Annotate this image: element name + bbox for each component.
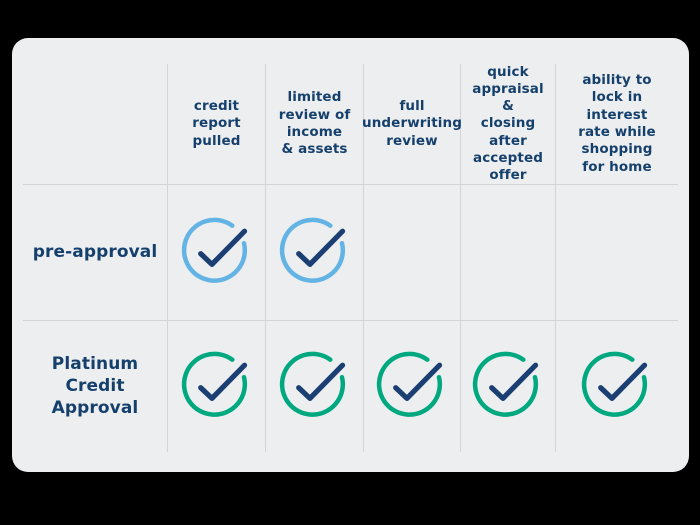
- circle-arc: [184, 220, 245, 281]
- checkmark: [200, 365, 244, 398]
- column-header-limited-review: limited review of income & assets: [266, 64, 363, 184]
- check-circle-icon: [581, 350, 653, 422]
- column-header-label: quick appraisal & closing after accepted…: [465, 64, 551, 185]
- column-header-credit-report-pulled: credit report pulled: [168, 64, 265, 184]
- checkmark: [601, 365, 645, 398]
- checkmark: [492, 365, 536, 398]
- circle-arc: [475, 354, 536, 415]
- check-circle-icon: [279, 216, 351, 288]
- checkmark: [298, 365, 342, 398]
- check-circle-icon: [472, 350, 544, 422]
- circle-arc: [584, 354, 645, 415]
- row-label-platinum-credit-approval: Platinum Credit Approval: [23, 320, 167, 452]
- cell-platinum-credit-approval-credit-report-pulled: [168, 320, 265, 452]
- check-circle-icon: [181, 216, 253, 288]
- column-header-label: credit report pulled: [192, 98, 240, 150]
- column-header-rate-lock: ability to lock in interest rate while s…: [556, 64, 678, 184]
- circle-arc: [379, 354, 440, 415]
- checkmark: [298, 231, 342, 264]
- cell-platinum-credit-approval-full-underwriting: [364, 320, 460, 452]
- row-label-text: pre-approval: [33, 241, 158, 263]
- checkmark: [200, 231, 244, 264]
- column-header-label: ability to lock in interest rate while s…: [578, 72, 656, 176]
- cell-platinum-credit-approval-quick-appraisal: [461, 320, 555, 452]
- comparison-card: credit report pulledlimited review of in…: [12, 38, 689, 472]
- cell-platinum-credit-approval-limited-review: [266, 320, 363, 452]
- comparison-table: credit report pulledlimited review of in…: [12, 38, 689, 472]
- circle-arc: [184, 354, 245, 415]
- cell-platinum-credit-approval-rate-lock: [556, 320, 678, 452]
- column-header-label: limited review of income & assets: [279, 89, 351, 158]
- column-header-full-underwriting: full underwriting review: [364, 64, 460, 184]
- column-header-label: full underwriting review: [362, 98, 462, 150]
- row-label-pre-approval: pre-approval: [23, 184, 167, 320]
- cell-pre-approval-credit-report-pulled: [168, 184, 265, 320]
- circle-arc: [282, 220, 343, 281]
- screenshot-root: credit report pulledlimited review of in…: [0, 0, 700, 525]
- check-circle-icon: [376, 350, 448, 422]
- column-header-quick-appraisal: quick appraisal & closing after accepted…: [461, 64, 555, 184]
- checkmark: [396, 365, 440, 398]
- cell-pre-approval-quick-appraisal: [461, 184, 555, 320]
- check-circle-icon: [279, 350, 351, 422]
- cell-pre-approval-rate-lock: [556, 184, 678, 320]
- circle-arc: [282, 354, 343, 415]
- check-circle-icon: [181, 350, 253, 422]
- cell-pre-approval-limited-review: [266, 184, 363, 320]
- cell-pre-approval-full-underwriting: [364, 184, 460, 320]
- row-label-text: Platinum Credit Approval: [52, 353, 139, 419]
